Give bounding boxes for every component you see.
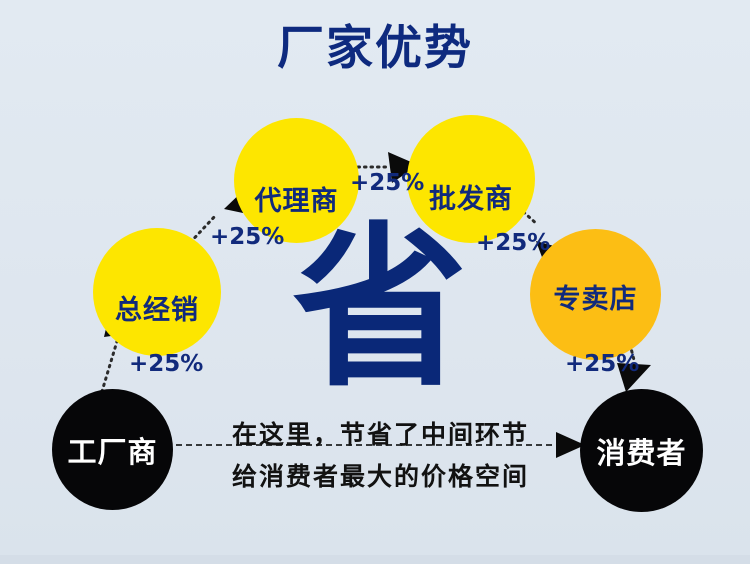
node-store-label: 专卖店 bbox=[554, 277, 638, 316]
node-wholesaler[interactable]: 批发商 bbox=[407, 115, 535, 243]
node-factory-label: 工厂商 bbox=[67, 429, 157, 471]
node-distributor-label: 总经销 bbox=[115, 288, 199, 327]
markup-pct-store-consumer: +25% bbox=[565, 351, 639, 377]
node-wholesaler-label: 批发商 bbox=[429, 177, 513, 216]
infographic-canvas: 厂家优势 省 工厂商 总经销 代理商 批发商 专卖店 消费者 +25% +25%… bbox=[0, 0, 750, 564]
emphasis-character: 省 bbox=[290, 222, 470, 397]
page-title: 厂家优势 bbox=[0, 22, 750, 76]
summary-line-1: 在这里，节省了中间环节 bbox=[232, 415, 529, 451]
markup-pct-factory-distributor: +25% bbox=[129, 351, 203, 377]
node-consumer[interactable]: 消费者 bbox=[580, 389, 703, 512]
markup-pct-agent-wholesaler: +25% bbox=[350, 170, 424, 196]
markup-pct-wholesaler-store: +25% bbox=[476, 230, 550, 256]
summary-line-2: 给消费者最大的价格空间 bbox=[232, 457, 529, 493]
node-consumer-label: 消费者 bbox=[596, 430, 686, 472]
markup-pct-distributor-agent: +25% bbox=[210, 224, 284, 250]
node-distributor[interactable]: 总经销 bbox=[93, 228, 221, 356]
node-factory[interactable]: 工厂商 bbox=[52, 389, 173, 510]
node-agent-label: 代理商 bbox=[255, 179, 339, 218]
